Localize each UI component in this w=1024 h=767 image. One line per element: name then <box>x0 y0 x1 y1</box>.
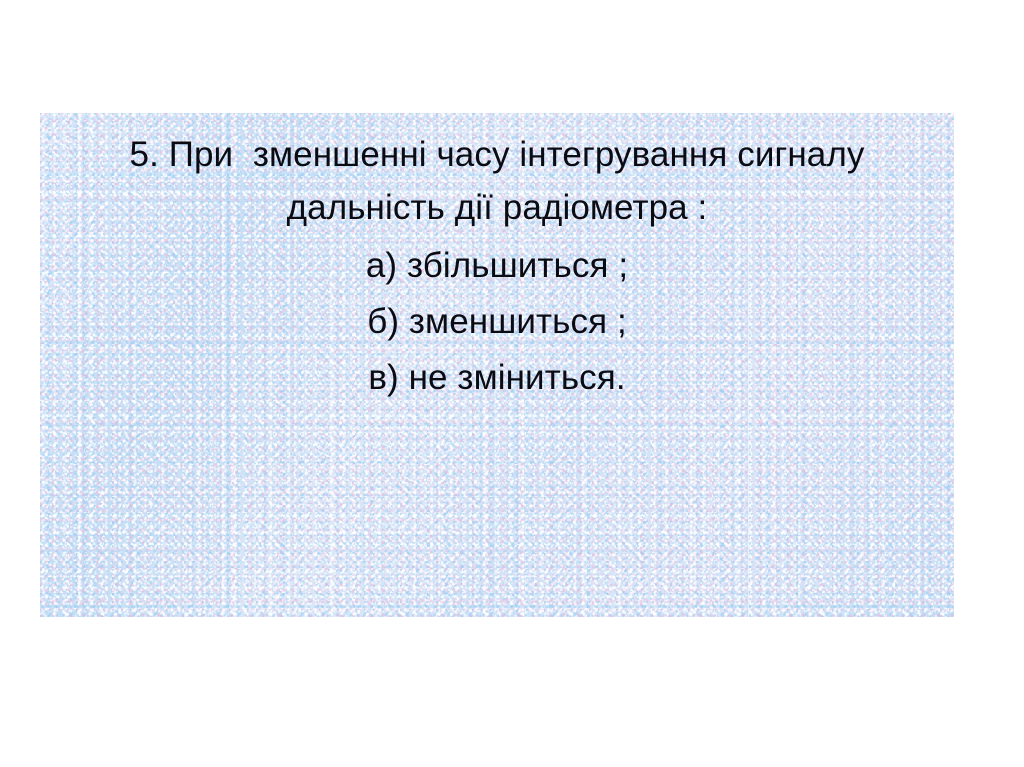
answer-option-b[interactable]: б) зменшиться ; <box>40 294 954 350</box>
answer-option-a[interactable]: а) збільшиться ; <box>40 238 954 294</box>
slide-text-block: 5. При зменшенні часу інтегрування сигна… <box>40 113 954 406</box>
question-line-2: дальність дії радіометра : <box>40 181 954 234</box>
answer-option-c[interactable]: в) не зміниться. <box>40 350 954 406</box>
question-line-1: 5. При зменшенні часу інтегрування сигна… <box>40 128 954 181</box>
slide-canvas: 5. При зменшенні часу інтегрування сигна… <box>0 0 1024 767</box>
slide-content-area: 5. При зменшенні часу інтегрування сигна… <box>40 113 954 617</box>
